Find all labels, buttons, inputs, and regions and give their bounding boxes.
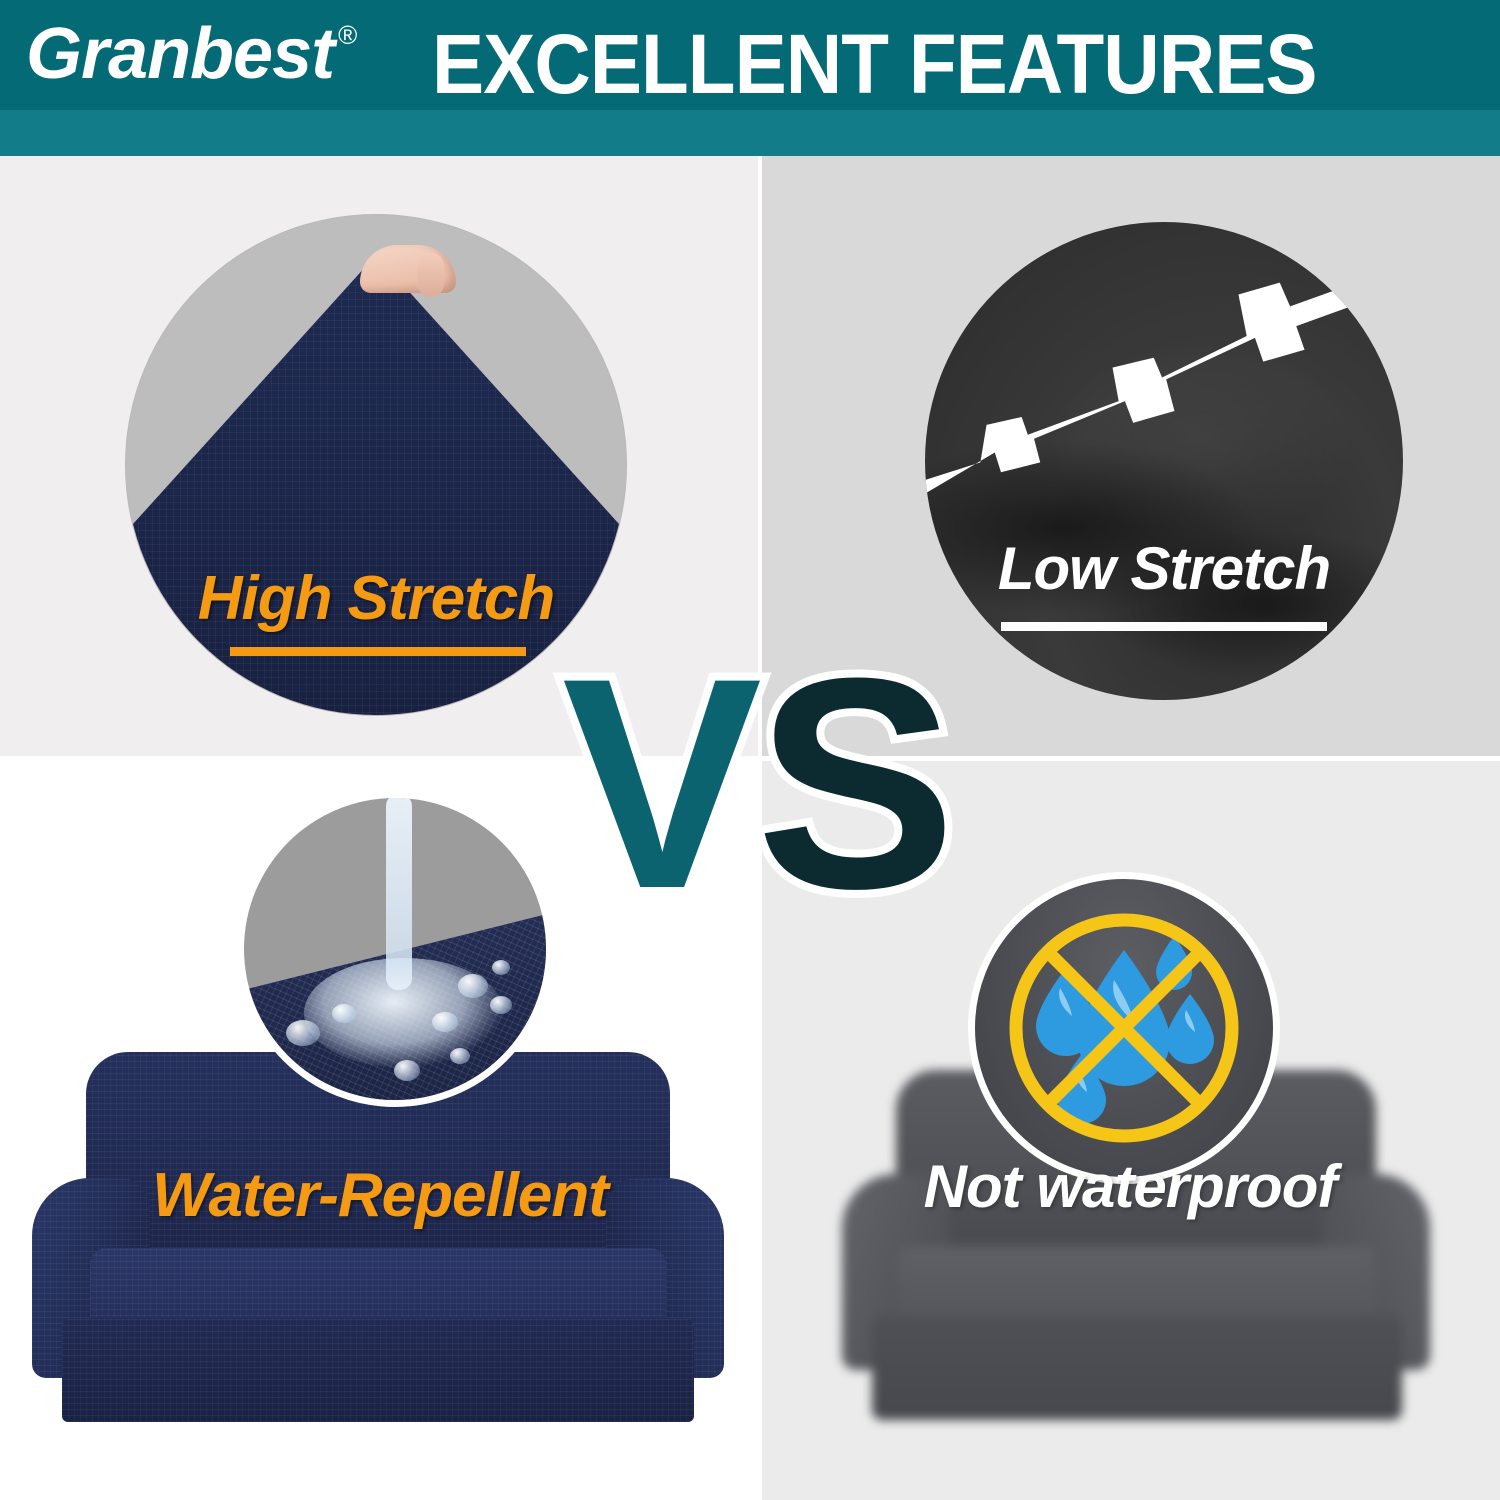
not-waterproof-label: Not waterproof [760, 1152, 1500, 1221]
brand-name: Granbest [26, 18, 334, 90]
water-repellent-label: Water-Repellent [0, 1160, 760, 1231]
page-title: EXCELLENT FEATURES [432, 20, 1409, 108]
water-stream-beading-icon [237, 791, 553, 1107]
high-stretch-label: High Stretch [126, 563, 626, 634]
water-droplet-icon [458, 974, 488, 998]
versus-v-letter: V [562, 638, 756, 928]
high-stretch-underline [230, 647, 526, 656]
water-droplet-icon [394, 1060, 420, 1081]
low-stretch-underline [1001, 622, 1327, 631]
no-water-droplets-icon [968, 872, 1280, 1184]
prohibition-droplets-svg [1002, 906, 1246, 1150]
low-stretch-label: Low Stretch [925, 534, 1403, 603]
hand-pulling-fabric-icon: High Stretch [126, 215, 626, 715]
versus-badge: VS [556, 638, 956, 928]
versus-s-letter: S [756, 638, 950, 928]
navy-sofa-illustration [22, 1052, 734, 1422]
header-bar: Granbest ® EXCELLENT FEATURES [0, 0, 1500, 156]
stretched-fabric-shape [126, 255, 626, 715]
hand-icon [360, 245, 456, 293]
torn-fabric-crack-icon: Low Stretch [925, 222, 1403, 700]
infographic-root: Granbest ® EXCELLENT FEATURES High Stret… [0, 0, 1500, 1500]
water-droplet-icon [332, 1004, 356, 1023]
sofa-base [872, 1316, 1402, 1420]
water-droplet-icon [492, 960, 510, 975]
brand-logo: Granbest ® [26, 18, 357, 90]
water-droplet-icon [432, 1012, 458, 1032]
water-droplet-icon [450, 1048, 470, 1064]
water-droplet-icon [286, 1020, 320, 1046]
header-accent-band [0, 110, 1500, 156]
sofa-base [62, 1318, 694, 1422]
water-droplet-icon [490, 996, 512, 1014]
crack-shape [925, 251, 1403, 547]
registered-trademark-icon: ® [338, 22, 357, 48]
